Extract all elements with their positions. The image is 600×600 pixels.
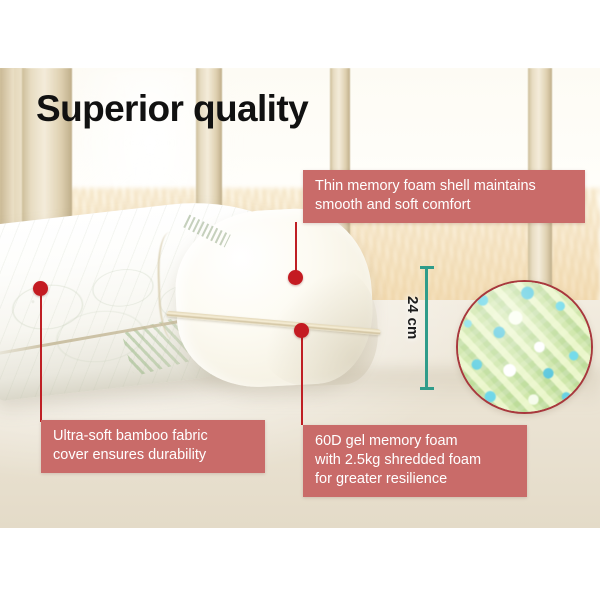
foam-highlight [458, 282, 591, 412]
callout-gel-memory-foam: 60D gel memory foam with 2.5kg shredded … [303, 425, 527, 497]
marker-dot-icon-gel-memory-foam [294, 323, 309, 338]
marker-dot-icon-bamboo-cover [33, 281, 48, 296]
callout-memory-foam-shell: Thin memory foam shell maintains smooth … [303, 170, 585, 223]
callout-bamboo-cover: Ultra-soft bamboo fabric cover ensures d… [41, 420, 265, 473]
dimension-cap-bottom [420, 387, 434, 390]
dimension-line [425, 266, 428, 390]
dimension-label: 24 cm [404, 296, 421, 340]
page-title: Superior quality [36, 90, 308, 127]
marker-dot-icon-memory-foam-shell [288, 270, 303, 285]
product-infographic: 24 cm Superior quality Thin memory foam … [0, 0, 600, 600]
pillow [0, 208, 420, 388]
leader-line-bamboo-cover [40, 292, 42, 422]
letterbox-bottom [0, 528, 600, 600]
leader-line-gel-memory-foam [301, 333, 303, 425]
letterbox-top [0, 0, 600, 68]
foam-closeup-circle [456, 280, 593, 414]
dimension-bar [420, 266, 434, 390]
